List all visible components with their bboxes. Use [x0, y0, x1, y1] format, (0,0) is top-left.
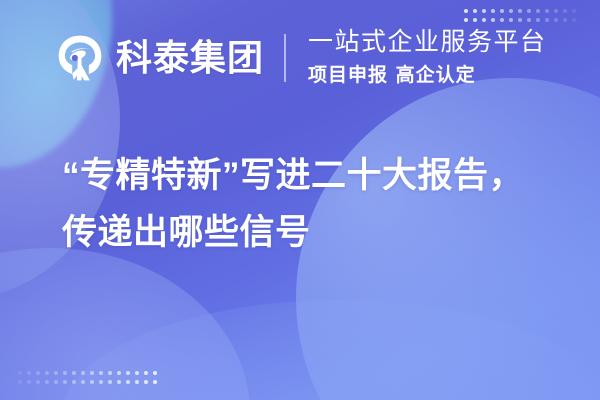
decorative-dot: [54, 380, 58, 384]
bottom-sheen-blob: [60, 300, 600, 400]
tagline-primary: 一站式企业服务平台: [308, 28, 547, 58]
decorative-dot: [117, 380, 121, 384]
brand-header: 科泰集团 一站式企业服务平台 项目申报 高企认定: [54, 28, 547, 87]
decorative-dot: [27, 380, 31, 384]
decorative-dot: [500, 18, 504, 22]
decorative-dot: [572, 9, 576, 13]
decorative-dot: [536, 9, 540, 13]
decorative-dot: [491, 9, 495, 13]
decorative-dot: [153, 371, 157, 375]
tagline-secondary: 项目申报 高企认定: [308, 63, 547, 88]
decorative-dot: [90, 371, 94, 375]
dot-row: [18, 380, 157, 384]
decorative-dot: [464, 18, 468, 22]
decorative-dot: [90, 380, 94, 384]
headline-text: “专精特新”写进二十大报告， 传递出哪些信号: [62, 148, 562, 261]
decorative-dot: [63, 371, 67, 375]
decorative-dot: [108, 371, 112, 375]
decorative-dot: [144, 371, 148, 375]
decorative-dot: [36, 371, 40, 375]
decorative-dot: [509, 18, 513, 22]
decorative-dot: [545, 18, 549, 22]
dot-row: [464, 9, 576, 13]
decorative-dot: [27, 371, 31, 375]
decorative-dot: [54, 371, 58, 375]
decorative-dot: [153, 380, 157, 384]
decorative-dot: [99, 371, 103, 375]
decorative-dot: [500, 9, 504, 13]
decorative-dot: [72, 371, 76, 375]
headline-line-1: “专精特新”写进二十大报告，: [62, 148, 562, 205]
dot-grid-bottom-left-decoration: [18, 371, 157, 384]
decorative-dot: [81, 380, 85, 384]
decorative-dot: [45, 371, 49, 375]
decorative-dot: [81, 371, 85, 375]
promo-banner: 科泰集团 一站式企业服务平台 项目申报 高企认定 “专精特新”写进二十大报告， …: [0, 0, 600, 400]
decorative-dot: [473, 9, 477, 13]
decorative-dot: [18, 380, 22, 384]
dot-row: [464, 18, 576, 22]
decorative-dot: [563, 9, 567, 13]
decorative-dot: [144, 380, 148, 384]
decorative-dot: [509, 9, 513, 13]
decorative-dot: [518, 18, 522, 22]
decorative-dot: [464, 9, 468, 13]
decorative-dot: [473, 18, 477, 22]
decorative-dot: [135, 371, 139, 375]
dot-grid-top-right-decoration: [464, 9, 576, 22]
decorative-dot: [108, 380, 112, 384]
decorative-dot: [554, 18, 558, 22]
headline-line-2: 传递出哪些信号: [62, 205, 562, 262]
decorative-dot: [36, 380, 40, 384]
decorative-dot: [482, 18, 486, 22]
decorative-dot: [72, 380, 76, 384]
decorative-dot: [45, 380, 49, 384]
brand-name: 科泰集团: [116, 40, 264, 76]
decorative-dot: [135, 380, 139, 384]
decorative-dot: [18, 371, 22, 375]
decorative-dot: [572, 18, 576, 22]
decorative-dot: [126, 371, 130, 375]
decorative-dot: [563, 18, 567, 22]
decorative-dot: [126, 380, 130, 384]
tagline-block: 一站式企业服务平台 项目申报 高企认定: [308, 28, 547, 87]
decorative-dot: [527, 18, 531, 22]
decorative-dot: [545, 9, 549, 13]
ketai-logo-icon: [54, 32, 106, 84]
decorative-dot: [99, 380, 103, 384]
decorative-dot: [518, 9, 522, 13]
decorative-dot: [536, 18, 540, 22]
dot-row: [18, 371, 157, 375]
decorative-dot: [63, 380, 67, 384]
header-divider: [284, 34, 286, 82]
decorative-dot: [527, 9, 531, 13]
decorative-dot: [554, 9, 558, 13]
decorative-dot: [491, 18, 495, 22]
decorative-dot: [117, 371, 121, 375]
decorative-dot: [482, 9, 486, 13]
